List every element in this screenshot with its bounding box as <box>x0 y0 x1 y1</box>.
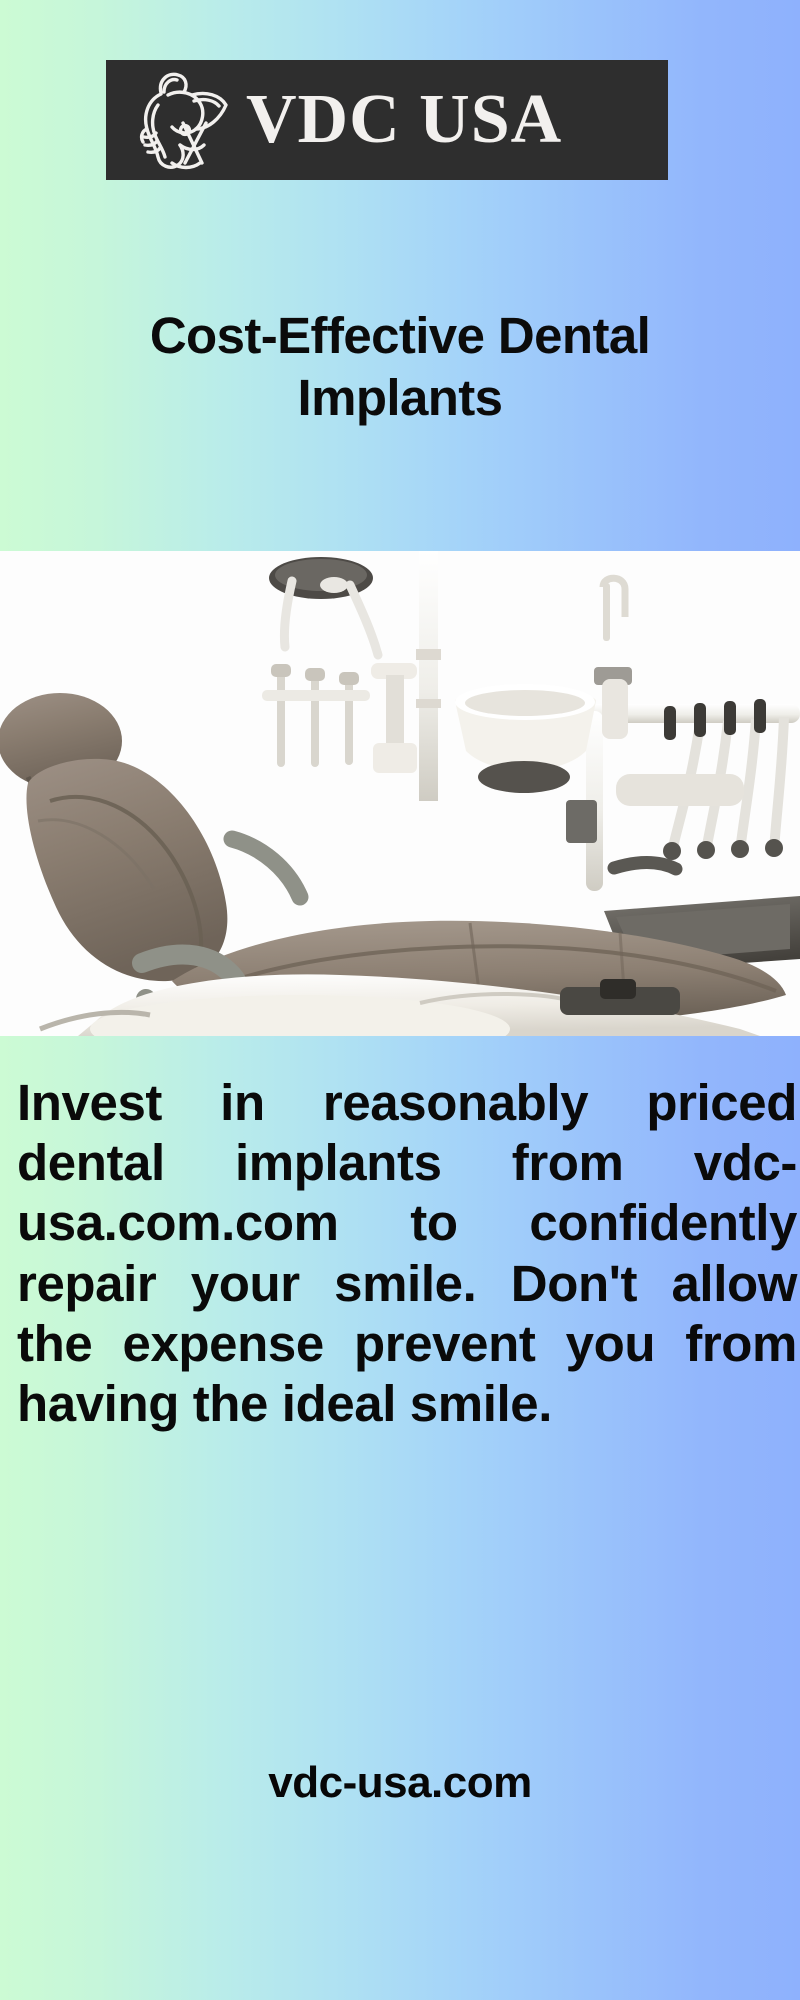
website-url[interactable]: vdc-usa.com <box>0 1758 800 1808</box>
elephant-head-line-art-icon <box>128 67 240 173</box>
dental-chair-operatory-photo <box>0 551 800 1036</box>
brand-logo-banner[interactable]: VDC USA <box>106 60 668 180</box>
page-title: Cost-Effective Dental Implants <box>60 305 740 429</box>
brand-wordmark: VDC USA <box>246 85 562 155</box>
description-text: Invest in reasonably priced dental impla… <box>17 1073 797 1434</box>
poster-canvas: VDC USA Cost-Effective Dental Implants <box>0 0 800 2000</box>
